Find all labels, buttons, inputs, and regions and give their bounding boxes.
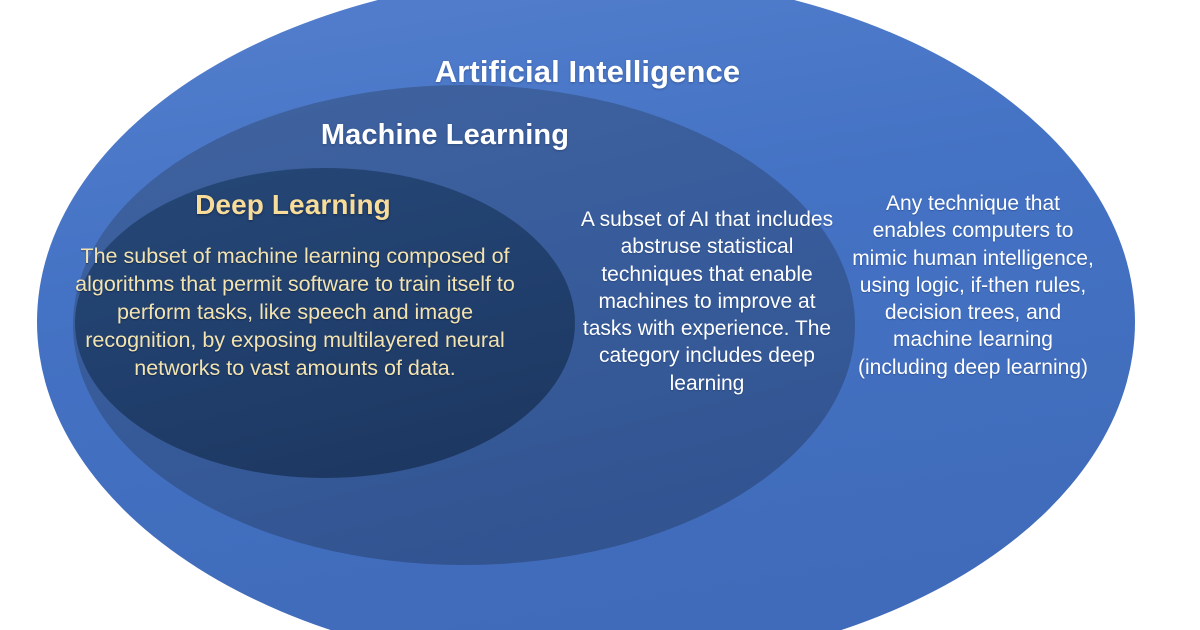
- machine-learning-title: Machine Learning: [0, 120, 890, 150]
- deep-learning-title: Deep Learning: [58, 190, 528, 219]
- deep-learning-description: The subset of machine learning composed …: [60, 243, 530, 383]
- artificial-intelligence-title: Artificial Intelligence: [0, 56, 1175, 89]
- machine-learning-description: A subset of AI that includes abstruse st…: [578, 206, 836, 397]
- artificial-intelligence-description: Any technique that enables computers to …: [852, 190, 1094, 381]
- venn-diagram-canvas: Artificial Intelligence Machine Learning…: [0, 0, 1200, 630]
